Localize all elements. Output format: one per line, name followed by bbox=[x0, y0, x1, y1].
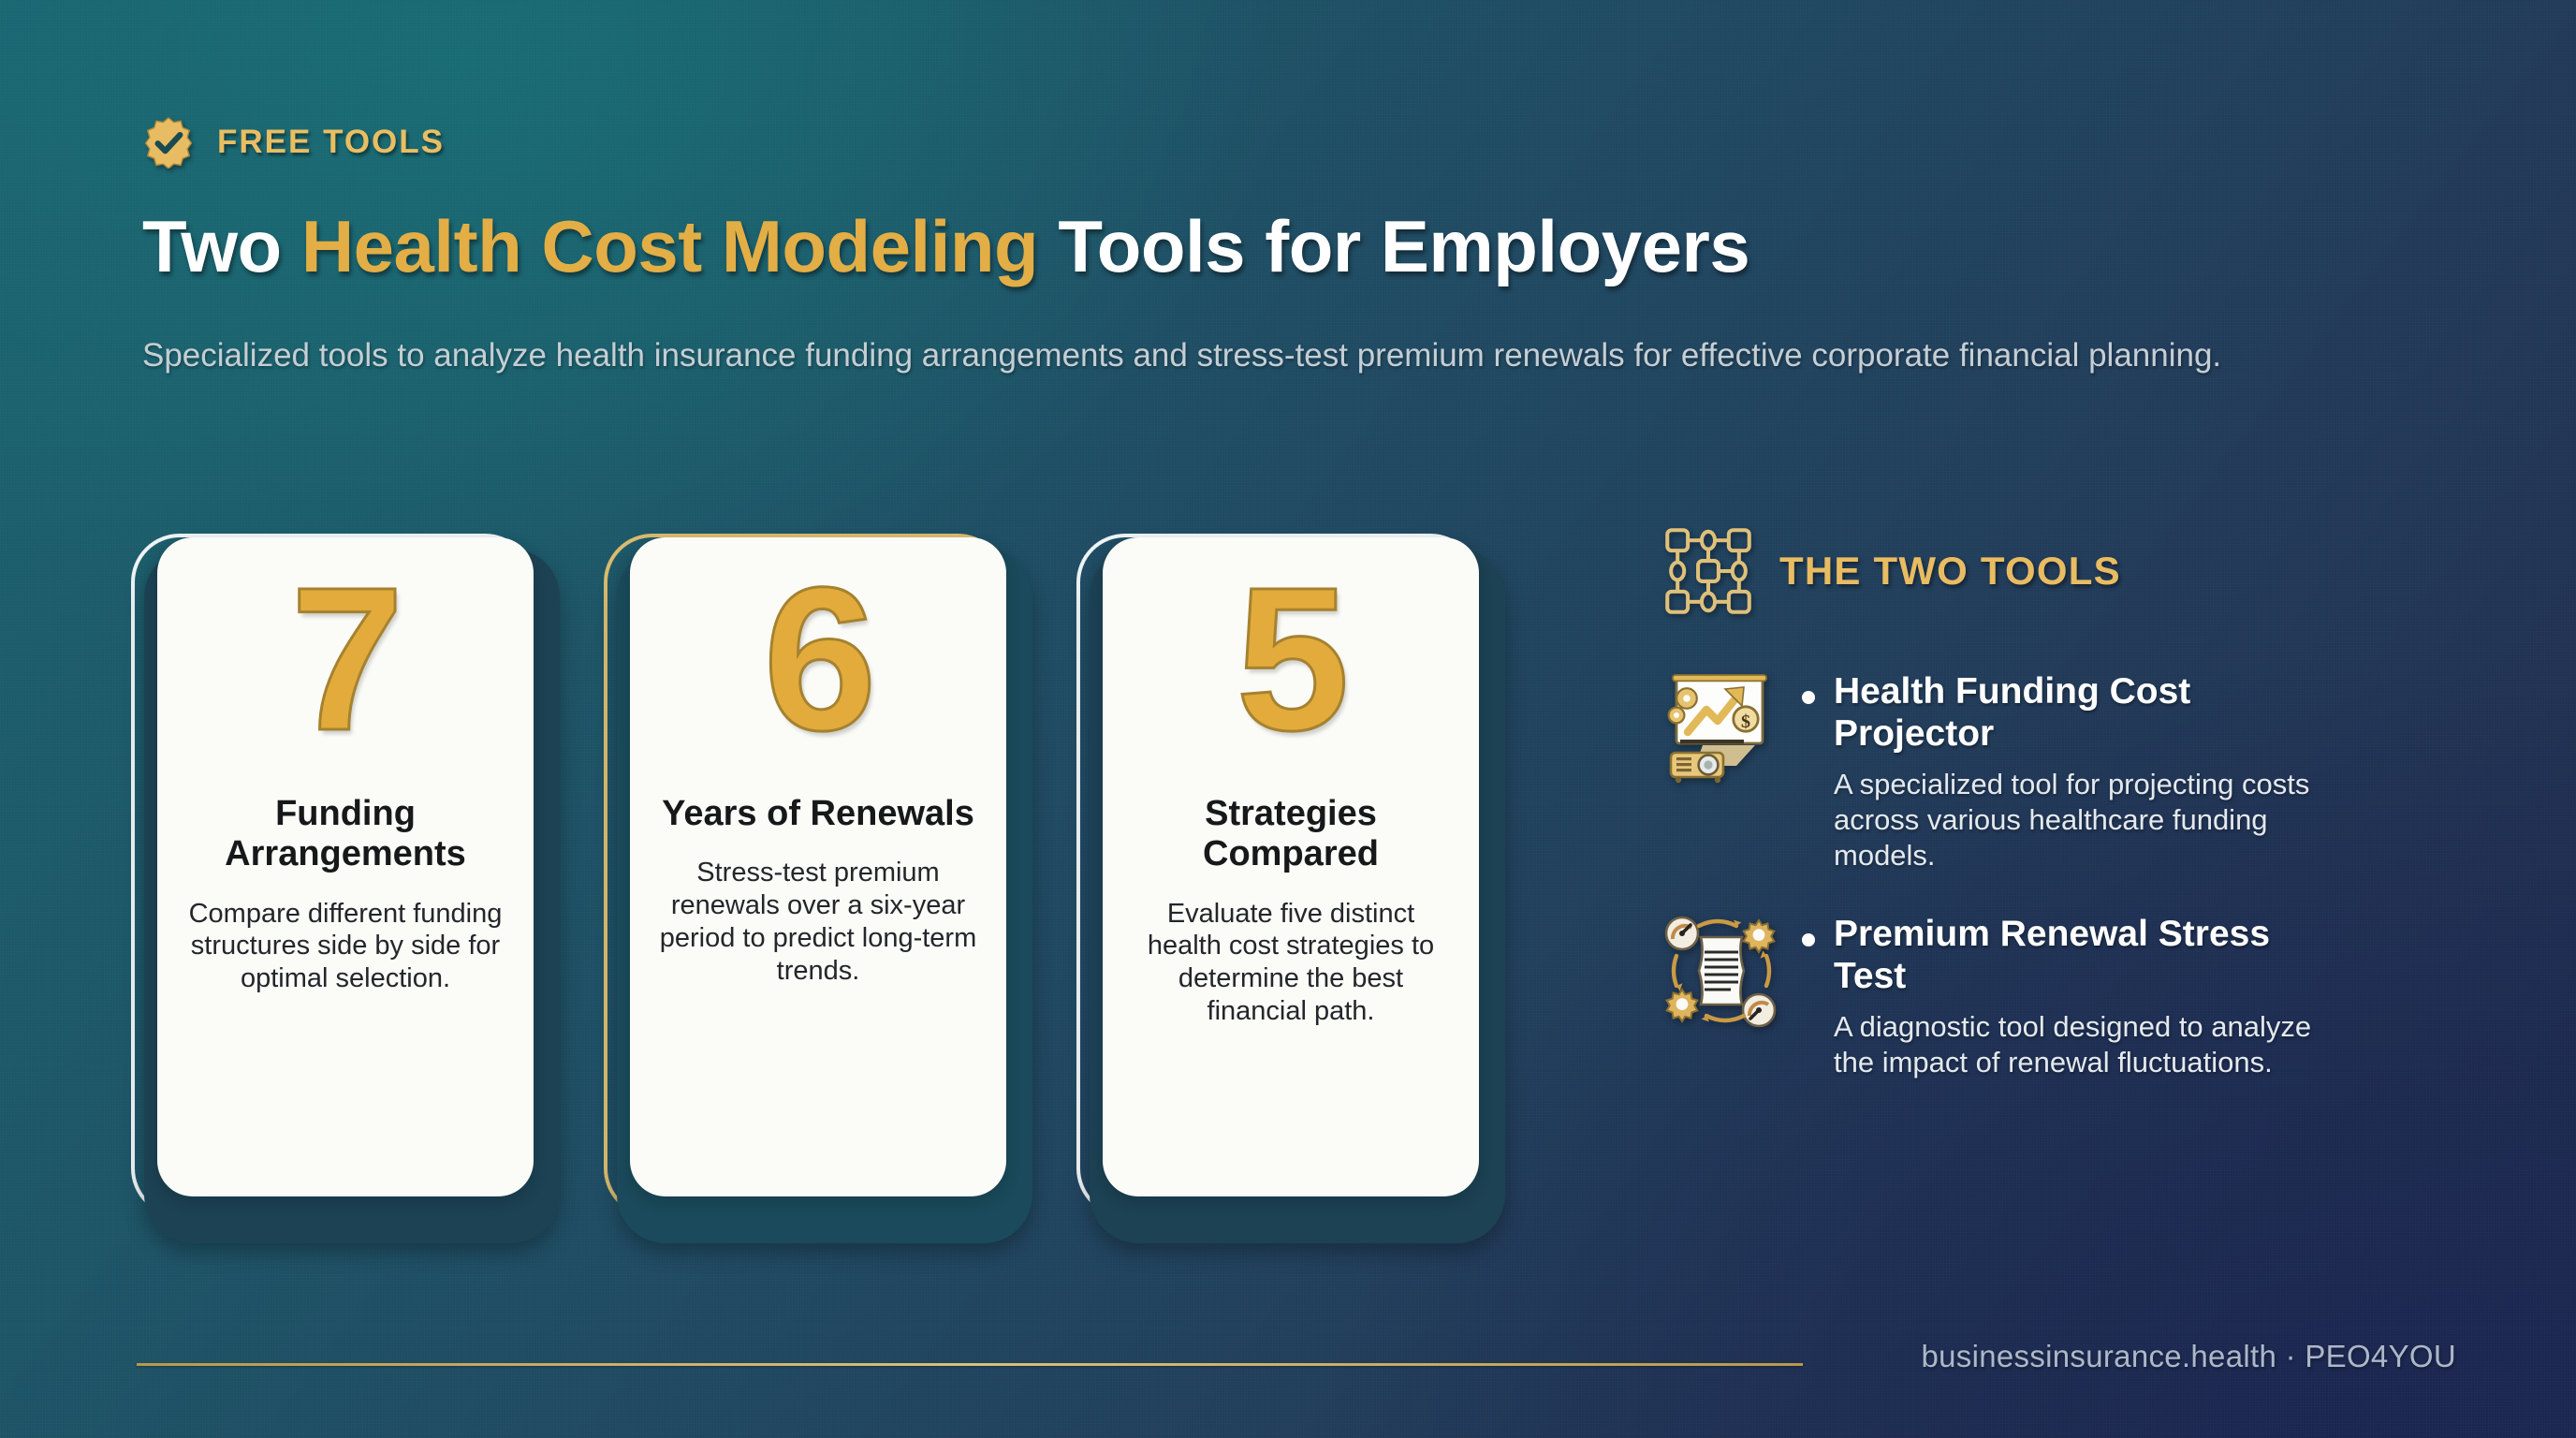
tool-name: Premium Renewal Stress Test bbox=[1834, 913, 2317, 997]
tool-description: A diagnostic tool designed to analyze th… bbox=[1834, 1009, 2317, 1080]
tools-panel: THE TWO TOOLS $ bbox=[1661, 524, 2317, 1116]
tool-name: Health Funding Cost Projector bbox=[1834, 670, 2317, 755]
network-nodes-diagram-icon bbox=[1661, 524, 1755, 618]
bullet-dot-icon bbox=[1802, 691, 1815, 704]
card-title: Years of Renewals bbox=[662, 794, 974, 834]
card-description: Stress-test premium renewals over a six-… bbox=[654, 857, 982, 987]
bullet-dot-icon bbox=[1802, 933, 1815, 946]
headline-highlight: Health Cost Modeling bbox=[301, 205, 1038, 287]
tool-description: A specialized tool for projecting costs … bbox=[1834, 767, 2317, 873]
tool-name-row: Health Funding Cost Projector bbox=[1802, 670, 2317, 755]
svg-text:$: $ bbox=[1741, 712, 1750, 732]
eyebrow-label: FREE TOOLS bbox=[217, 124, 445, 161]
card-body: 6 Years of Renewals Stress-test premium … bbox=[630, 537, 1006, 1196]
page-subtitle: Specialized tools to analyze health insu… bbox=[142, 335, 2408, 377]
card-title: Strategies Compared bbox=[1127, 794, 1455, 875]
card-number: 5 bbox=[1236, 558, 1345, 762]
stat-card-years-of-renewals[interactable]: 6 Years of Renewals Stress-test premium … bbox=[604, 534, 1032, 1243]
stat-card-group: 7 Funding Arrangements Compare different… bbox=[131, 534, 1505, 1243]
headline-part-2: Tools for Employers bbox=[1038, 205, 1749, 287]
verified-badge-check-icon bbox=[142, 116, 195, 169]
tools-panel-header: THE TWO TOOLS bbox=[1661, 524, 2317, 618]
card-number: 7 bbox=[290, 558, 400, 762]
tool-name-row: Premium Renewal Stress Test bbox=[1802, 913, 2317, 997]
footer-attribution: businessinsurance.health · PEO4YOU bbox=[1922, 1339, 2457, 1374]
tools-panel-title: THE TWO TOOLS bbox=[1779, 549, 2121, 594]
card-description: Evaluate five distinct health cost strat… bbox=[1127, 898, 1455, 1028]
card-description: Compare different funding structures sid… bbox=[182, 898, 509, 995]
tool-item-health-funding-cost-projector[interactable]: $ Health Funding Cost Projector A specia… bbox=[1661, 667, 2317, 873]
stat-card-strategies-compared[interactable]: 5 Strategies Compared Evaluate five dist… bbox=[1076, 534, 1505, 1243]
card-body: 7 Funding Arrangements Compare different… bbox=[157, 537, 534, 1196]
document-gauges-gears-cycle-icon bbox=[1661, 911, 1781, 1031]
infographic-canvas: FREE TOOLS Two Health Cost Modeling Tool… bbox=[0, 0, 2576, 1438]
footer-divider bbox=[137, 1363, 1803, 1366]
card-title: Funding Arrangements bbox=[182, 794, 509, 875]
projector-chart-growth-icon: $ bbox=[1661, 668, 1781, 788]
tool-text-block: Premium Renewal Stress Test A diagnostic… bbox=[1802, 909, 2317, 1080]
page-title: Two Health Cost Modeling Tools for Emplo… bbox=[142, 204, 1749, 289]
tool-text-block: Health Funding Cost Projector A speciali… bbox=[1802, 667, 2317, 873]
card-number: 6 bbox=[763, 558, 872, 762]
card-body: 5 Strategies Compared Evaluate five dist… bbox=[1103, 537, 1479, 1196]
eyebrow-badge: FREE TOOLS bbox=[142, 116, 445, 169]
headline-part-1: Two bbox=[142, 205, 301, 287]
tool-item-premium-renewal-stress-test[interactable]: Premium Renewal Stress Test A diagnostic… bbox=[1661, 909, 2317, 1080]
stat-card-funding-arrangements[interactable]: 7 Funding Arrangements Compare different… bbox=[131, 534, 560, 1243]
